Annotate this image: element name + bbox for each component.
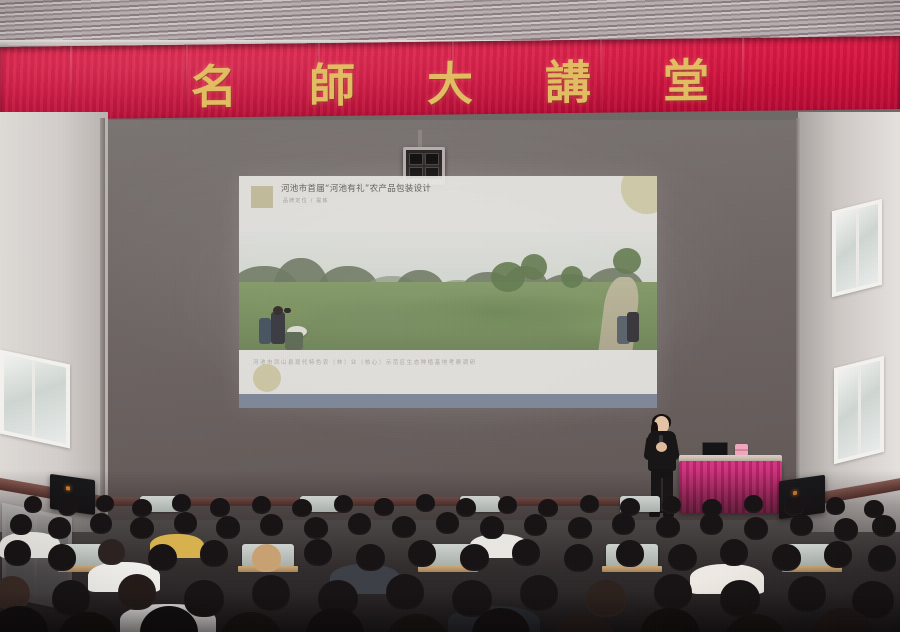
banner-char-1: 名 xyxy=(191,63,237,110)
projected-slide: 河池市首届“河池有礼”农产品包装设计 品牌定位 / 提炼 xyxy=(239,176,657,408)
slide-subtitle: 品牌定位 / 提炼 xyxy=(283,197,329,204)
foreground-shadow xyxy=(0,592,900,632)
banner-char-2: 師 xyxy=(309,62,355,109)
wall-corner-right xyxy=(796,118,801,526)
banner-char-5: 堂 xyxy=(663,57,709,104)
slide-caption: 河池市凤山县现代特色农（林）业（核心）示范区生态种植基地考察调研 xyxy=(253,358,477,366)
slide-title: 河池市首届“河池有礼”农产品包装设计 xyxy=(281,185,647,195)
slide-photo xyxy=(239,232,657,350)
slide-footer-bar xyxy=(239,394,657,408)
banner-char-3: 大 xyxy=(427,60,473,107)
banner-text: 名 師 大 講 堂 xyxy=(0,42,900,126)
projector-mount xyxy=(418,130,422,148)
slide-decor-circle-bottom xyxy=(253,364,281,392)
slide-decor-circle-top xyxy=(621,176,657,214)
window xyxy=(0,350,70,449)
window xyxy=(834,356,884,464)
right-side-wall xyxy=(798,112,900,532)
window xyxy=(832,199,882,297)
person-with-backpack xyxy=(259,318,271,344)
banner-char-4: 講 xyxy=(545,59,591,106)
slide-bullet-square xyxy=(251,186,273,208)
wall-corner-left xyxy=(100,118,105,526)
left-side-wall xyxy=(0,112,108,532)
person-with-camera xyxy=(271,312,285,344)
lecture-hall-photo: 名 師 大 講 堂 河池市首届“河池有礼”农产品包装设计 品牌定位 / 提炼 xyxy=(0,0,900,632)
